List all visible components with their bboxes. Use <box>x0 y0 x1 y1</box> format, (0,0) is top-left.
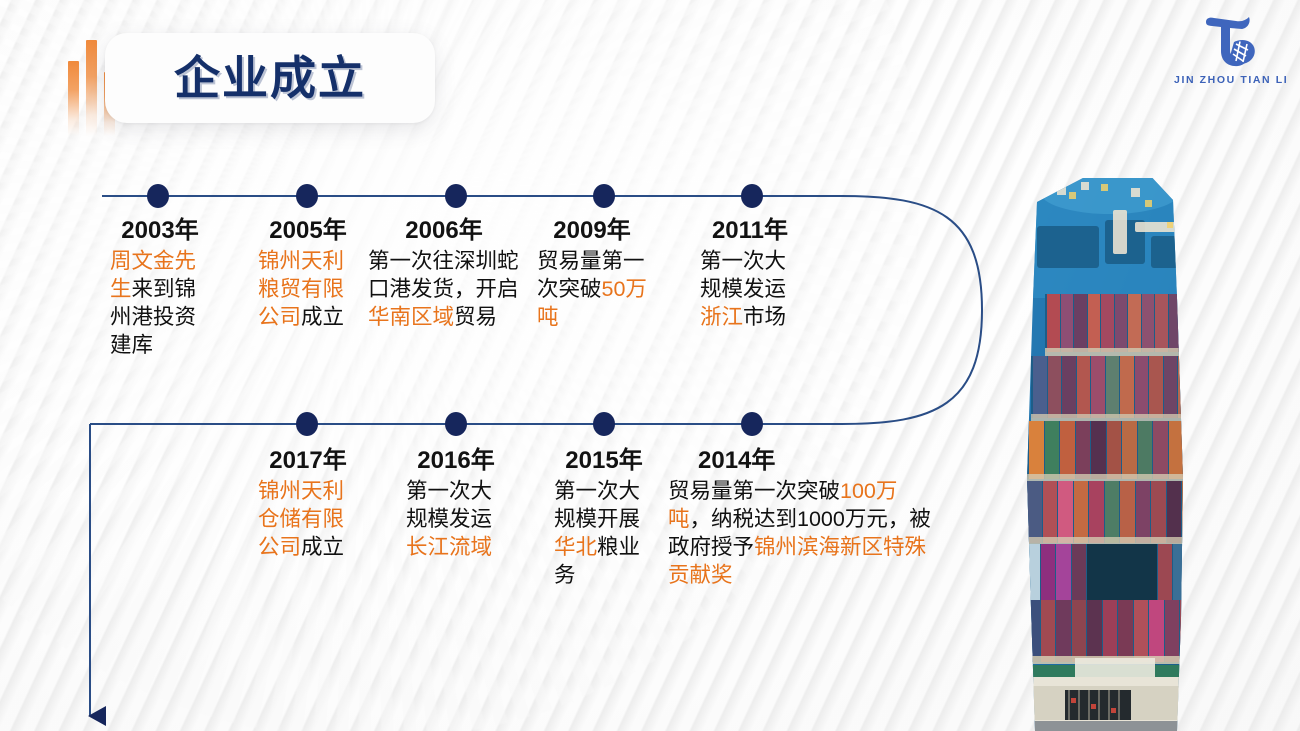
body-text: 第一次大规模开展 <box>554 479 640 531</box>
event-description: 贸易量第一次突破50万吨 <box>537 247 647 331</box>
event-description: 第一次大规模发运长江流域 <box>406 477 506 561</box>
highlight-text: 华北 <box>554 535 597 559</box>
event-description: 锦州天利粮贸有限公司成立 <box>258 247 358 331</box>
event-description: 贸易量第一次突破100万吨，纳税达到1000万元，被政府授予锦州滨海新区特殊贡献… <box>668 477 938 590</box>
timeline-event-2015: 2015年 第一次大规模开展华北粮业务 <box>554 448 654 590</box>
container-ship-photo <box>1005 178 1220 731</box>
body-text: 贸易 <box>454 305 497 329</box>
event-year: 2009年 <box>537 218 647 245</box>
timeline-event-2003: 2003年 周文金先生来到锦州港投资建库 <box>110 218 210 360</box>
highlight-text: 华南区域 <box>368 305 454 329</box>
tianli-t-logo-icon <box>1196 14 1260 70</box>
highlight-text: 浙江 <box>700 305 743 329</box>
event-year: 2014年 <box>668 448 938 475</box>
event-year: 2017年 <box>258 448 358 475</box>
event-year: 2016年 <box>406 448 506 475</box>
body-text: 市场 <box>743 305 786 329</box>
slide-canvas: 企业成立 JIN ZHOU TIAN LI <box>0 0 1300 731</box>
event-year: 2003年 <box>110 218 210 245</box>
timeline-event-2011: 2011年 第一次大规模发运浙江市场 <box>700 218 800 331</box>
logo-wordmark: JIN ZHOU TIAN LI <box>1174 74 1282 86</box>
event-year: 2015年 <box>554 448 654 475</box>
orange-bar-2 <box>86 40 97 136</box>
body-text: 第一次大规模发运 <box>700 249 786 301</box>
event-year: 2005年 <box>258 218 358 245</box>
body-text: 第一次大规模发运 <box>406 479 492 531</box>
event-description: 第一次往深圳蛇口港发货，开启华南区域贸易 <box>368 247 520 331</box>
event-year: 2011年 <box>700 218 800 245</box>
timeline-event-2017: 2017年 锦州天利仓储有限公司成立 <box>258 448 358 561</box>
event-description: 锦州天利仓储有限公司成立 <box>258 477 358 561</box>
body-text: 成立 <box>301 535 344 559</box>
timeline-event-2005: 2005年 锦州天利粮贸有限公司成立 <box>258 218 358 331</box>
orange-bar-1 <box>68 61 79 136</box>
timeline-event-2006: 2006年 第一次往深圳蛇口港发货，开启华南区域贸易 <box>368 218 520 331</box>
event-year: 2006年 <box>368 218 520 245</box>
body-text: 第一次往深圳蛇口港发货，开启 <box>368 249 519 301</box>
company-logo: JIN ZHOU TIAN LI <box>1174 14 1282 100</box>
slide-title-card: 企业成立 <box>105 33 435 123</box>
ship-illustration <box>1005 178 1220 731</box>
timeline-event-2009: 2009年 贸易量第一次突破50万吨 <box>537 218 647 331</box>
event-description: 第一次大规模开展华北粮业务 <box>554 477 654 590</box>
event-description: 第一次大规模发运浙江市场 <box>700 247 800 331</box>
body-text: 成立 <box>301 305 344 329</box>
page-title: 企业成立 <box>174 55 366 101</box>
timeline-event-2016: 2016年 第一次大规模发运长江流域 <box>406 448 506 561</box>
body-text: 贸易量第一次突破 <box>668 479 840 503</box>
timeline-event-2014: 2014年 贸易量第一次突破100万吨，纳税达到1000万元，被政府授予锦州滨海… <box>668 448 938 590</box>
event-description: 周文金先生来到锦州港投资建库 <box>110 247 210 360</box>
highlight-text: 长江流域 <box>406 535 492 559</box>
